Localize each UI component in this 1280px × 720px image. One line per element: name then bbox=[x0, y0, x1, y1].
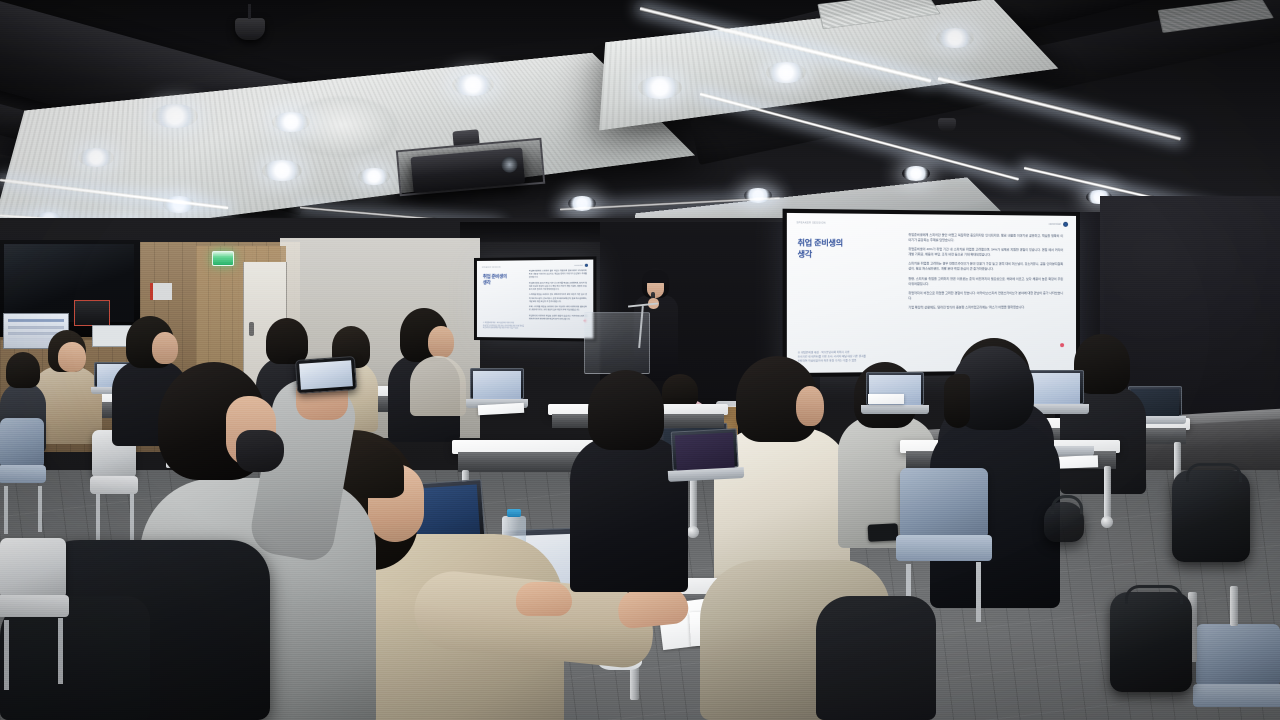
slide-header: SPEAKER SESSION careerstart bbox=[796, 219, 1068, 231]
chair-seat bbox=[90, 476, 138, 494]
laptop[interactable] bbox=[866, 372, 924, 414]
monitor-slide-surface: SPEAKER SESSION careerstart 취업 준비생의 생각 취… bbox=[477, 260, 593, 339]
backpack[interactable] bbox=[1110, 592, 1192, 692]
smartphone-held[interactable] bbox=[295, 356, 357, 394]
brand-logo-icon bbox=[1063, 222, 1068, 227]
slide-brand-right-text: careerstart bbox=[574, 264, 582, 266]
slide-paragraph: 한편, 스피치를 취업을 고려하지 않은 이유로는 준직 비전까지의 필요성으로… bbox=[529, 306, 587, 312]
exit-sign-icon bbox=[212, 251, 234, 266]
chair-leg bbox=[976, 562, 981, 622]
person-head bbox=[58, 342, 86, 372]
desk-leg bbox=[1104, 466, 1111, 520]
handout-paper[interactable] bbox=[1054, 455, 1098, 469]
chair[interactable] bbox=[1196, 624, 1280, 720]
desk-caster bbox=[687, 526, 699, 538]
av-booth-glass bbox=[4, 244, 134, 322]
slide-paragraph: 한편, 스피치를 취업을 고려하지 않은 이유로는 준직 비전까지의 필요성으로… bbox=[908, 276, 1063, 286]
downlight-icon bbox=[358, 168, 390, 185]
slide-footnote: ※ 취업준비생 대상 · 복수응답자의 이야기 기반 조사기간 내 데이터를 기… bbox=[483, 323, 525, 331]
chair-leg bbox=[4, 620, 9, 690]
chair-leg bbox=[96, 494, 100, 546]
person-a14-back-row-center bbox=[410, 322, 466, 408]
slide-body: 취업준비생에게 스피치란 불안 어렵고 복잡하면 중요하지만 인식되지만, 말로… bbox=[908, 233, 1063, 315]
confidence-monitor: SPEAKER SESSION careerstart 취업 준비생의 생각 취… bbox=[474, 256, 596, 341]
chair-seat bbox=[0, 465, 46, 483]
slide-brand-right: careerstart bbox=[574, 264, 588, 267]
slide-paragraph: 스피치를 취업을 고려하는 경우 컨텐츠카이브가 분야 인용가 가장 높고 경력… bbox=[529, 294, 587, 303]
laptop-base bbox=[861, 405, 928, 414]
person-torso bbox=[570, 436, 688, 592]
presenter-hair-front bbox=[643, 270, 668, 283]
slide-brand-left: SPEAKER SESSION bbox=[482, 267, 501, 269]
chair-back bbox=[1196, 624, 1280, 685]
person-hair bbox=[6, 352, 40, 388]
slide-paragraph: 취업준비생의 40%가 취업 기간 내 스피치를 취업을 고려했으며, 54%가… bbox=[529, 282, 587, 292]
slide-brand-left: SPEAKER SESSION bbox=[796, 221, 825, 224]
downlight-icon bbox=[766, 62, 806, 83]
downlight-icon bbox=[78, 148, 114, 167]
downlight-icon bbox=[262, 160, 302, 181]
slide-paragraph: 스피치를 취업을 고려하는 경우 컨텐츠카이브가 분야 인용가 가장 높고 경력… bbox=[908, 262, 1063, 273]
person-head bbox=[796, 386, 824, 426]
backpack[interactable] bbox=[1172, 470, 1250, 562]
pendant-speaker-icon bbox=[938, 118, 956, 132]
ponytail bbox=[944, 374, 970, 428]
coat-on-chair bbox=[816, 596, 936, 720]
door-handle-icon[interactable] bbox=[249, 322, 254, 336]
slide-paragraph: 취업까지의 비전으로 취업을 고려한 경험이 있습니다. 아카이브/스피치 컨텐… bbox=[529, 315, 587, 322]
downlight-icon bbox=[152, 104, 198, 128]
brand-logo-icon bbox=[585, 264, 588, 267]
chair-back bbox=[900, 468, 988, 537]
handout-paper[interactable] bbox=[868, 394, 904, 404]
downlight-icon bbox=[272, 112, 310, 132]
slide-brand-right-text: careerstart bbox=[1049, 223, 1061, 226]
pendant-speaker-icon bbox=[235, 18, 265, 40]
laptop[interactable] bbox=[671, 428, 740, 481]
person-hand bbox=[516, 582, 572, 616]
lecture-hall-photo: SPEAKER SESSION careerstart 취업 준비생의 생각 취… bbox=[0, 0, 1280, 720]
laptop[interactable] bbox=[470, 368, 524, 408]
slide-title: 취업 준비생의 생각 bbox=[483, 274, 521, 287]
chair[interactable] bbox=[900, 468, 988, 576]
downlight-icon bbox=[638, 76, 682, 99]
downlight-icon bbox=[936, 28, 974, 48]
chair-leg bbox=[58, 618, 63, 684]
desk-caster bbox=[1101, 516, 1113, 528]
face-mask-icon bbox=[236, 430, 284, 472]
slide-paragraph: 취업까지의 비전으로 취업을 고려한 경험이 있습니다. 아카이브/스피치 컨텐… bbox=[908, 291, 1063, 301]
chair-seat bbox=[0, 595, 69, 617]
chair[interactable] bbox=[0, 538, 66, 630]
smartphone-on-desk[interactable] bbox=[868, 523, 899, 542]
chair-leg bbox=[130, 494, 134, 544]
chair-seat bbox=[1193, 684, 1280, 707]
downlight-icon bbox=[452, 74, 494, 96]
person-hair bbox=[588, 370, 664, 450]
chair-back bbox=[0, 538, 66, 597]
slide-paragraph: 취업준비생의 40%가 취업 기간 내 스피치를 취업을 고려했으며, 54%가… bbox=[908, 247, 1063, 258]
chair[interactable] bbox=[0, 418, 44, 494]
desk-leg bbox=[1230, 586, 1238, 626]
chair-leg bbox=[38, 486, 42, 532]
slide-brand-right: careerstart bbox=[1049, 222, 1068, 227]
wall-notice-sign bbox=[150, 283, 172, 300]
downlight-icon bbox=[902, 166, 930, 181]
ceiling-projector bbox=[396, 138, 546, 207]
slide-paragraph: 취업준비생에게 스피치란 불안 어렵고 복잡하면 중요하지만 인식되지만, 말로… bbox=[529, 270, 587, 280]
person-torso bbox=[410, 356, 466, 416]
slide-title: 취업 준비생의 생각 bbox=[798, 238, 887, 261]
phone-screen bbox=[299, 360, 353, 390]
chair-leg bbox=[4, 486, 8, 534]
booth-notice-sign bbox=[74, 300, 110, 326]
chair-back bbox=[0, 418, 44, 467]
slide-paragraph: 취업준비생에게 스피치란 불안 어렵고 복잡하면 중요하지만 인식되지만, 말로… bbox=[908, 233, 1063, 244]
chair-seat bbox=[896, 535, 991, 561]
backpack[interactable] bbox=[1044, 502, 1084, 542]
slide-paragraph: 기업 확장적 상황에도, 달라진 방식이 충분한 스피치업고리에는 '퍼스가 어… bbox=[908, 305, 1063, 310]
slide-body: 취업준비생에게 스피치란 불안 어렵고 복잡하면 중요하지만 인식되지만, 말로… bbox=[529, 270, 587, 325]
